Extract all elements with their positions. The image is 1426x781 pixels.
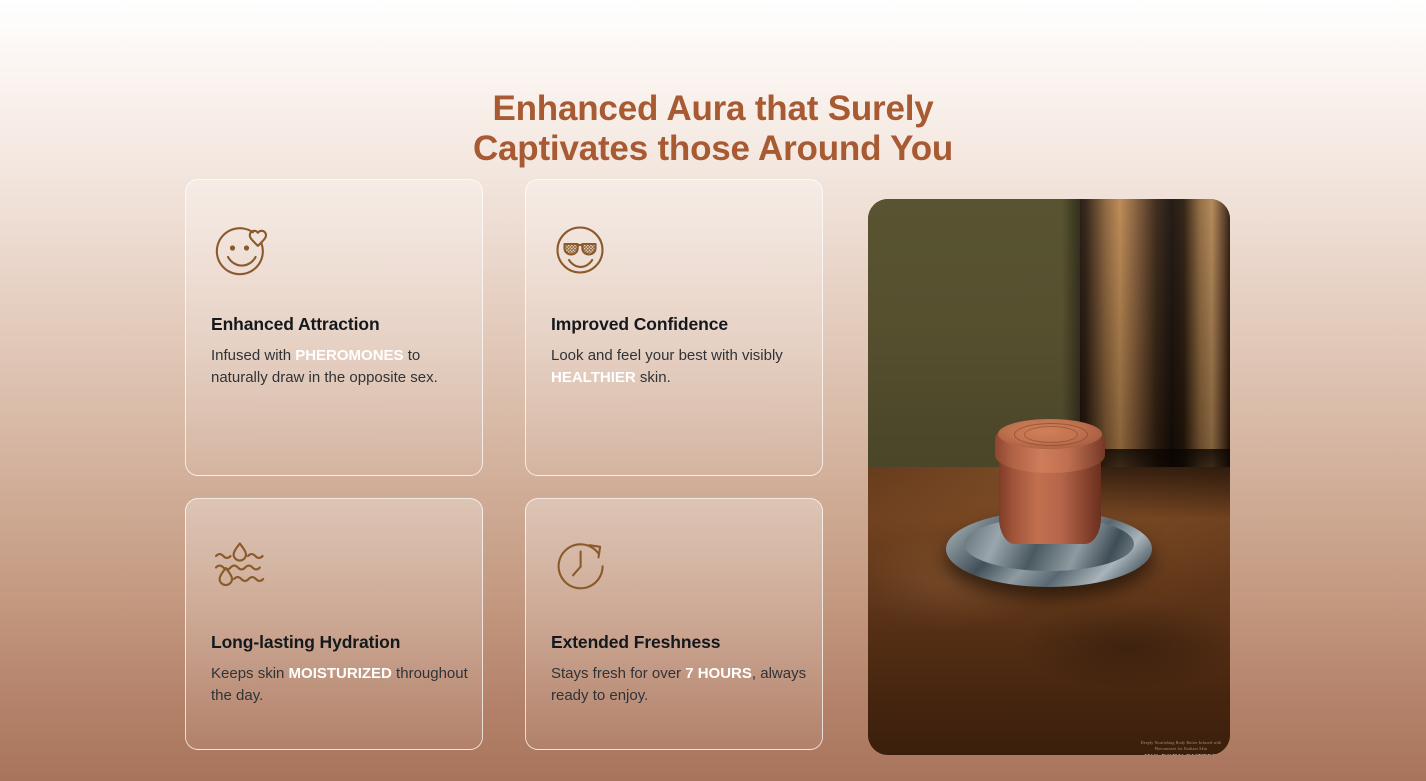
- jar-lid-ring-inner: [1024, 426, 1078, 443]
- product-jar-label: Deeply Nourishing Body Butter Infused wi…: [1132, 740, 1230, 755]
- page-title-line-2: Captivates those Around You: [0, 129, 1426, 169]
- desc-highlight: 7 HOURS: [685, 665, 752, 682]
- desc-highlight: MOISTURIZED: [289, 665, 392, 682]
- page-title: Enhanced Aura that Surely Captivates tho…: [0, 89, 1426, 169]
- feature-card-description: Keeps skin MOISTURIZED throughout the da…: [211, 663, 469, 707]
- smiley-sunglasses-icon: [551, 223, 615, 281]
- feature-card-title: Enhanced Attraction: [211, 314, 380, 335]
- desc-text-post: skin.: [636, 369, 671, 386]
- feature-card-extended-freshness[interactable]: Extended Freshness Stays fresh for over …: [525, 498, 823, 750]
- jar-label-top-line: Deeply Nourishing Body Butter Infused wi…: [1132, 740, 1230, 752]
- product-image[interactable]: Deeply Nourishing Body Butter Infused wi…: [868, 199, 1230, 755]
- feature-card-title: Extended Freshness: [551, 632, 720, 653]
- page-root: Enhanced Aura that Surely Captivates tho…: [0, 0, 1426, 781]
- water-droplets-waves-icon: [211, 539, 275, 597]
- jar-label-name: ING BODY BUTTER: [1144, 752, 1217, 755]
- feature-card-description: Infused with PHEROMONES to naturally dra…: [211, 345, 469, 389]
- feature-card-enhanced-attraction[interactable]: Enhanced Attraction Infused with PHEROMO…: [185, 179, 483, 476]
- feature-card-grid: Enhanced Attraction Infused with PHEROMO…: [185, 179, 825, 750]
- desc-text-pre: Infused with: [211, 347, 295, 364]
- feature-card-description: Stays fresh for over 7 HOURS, always rea…: [551, 663, 809, 707]
- desc-text-pre: Stays fresh for over: [551, 665, 685, 682]
- smiley-heart-icon: [211, 223, 275, 281]
- desc-text-pre: Look and feel your best with visibly: [551, 347, 783, 364]
- feature-card-long-lasting-hydration[interactable]: Long-lasting Hydration Keeps skin MOISTU…: [185, 498, 483, 750]
- feature-card-title: Improved Confidence: [551, 314, 728, 335]
- feature-card-description: Look and feel your best with visibly HEA…: [551, 345, 809, 389]
- feature-card-improved-confidence[interactable]: Improved Confidence Look and feel your b…: [525, 179, 823, 476]
- page-title-line-1: Enhanced Aura that Surely: [0, 89, 1426, 129]
- clock-arrow-icon: [551, 539, 615, 597]
- desc-highlight: PHEROMONES: [295, 347, 403, 364]
- desc-text-pre: Keeps skin: [211, 665, 289, 682]
- desc-highlight: HEALTHIER: [551, 369, 636, 386]
- feature-card-title: Long-lasting Hydration: [211, 632, 400, 653]
